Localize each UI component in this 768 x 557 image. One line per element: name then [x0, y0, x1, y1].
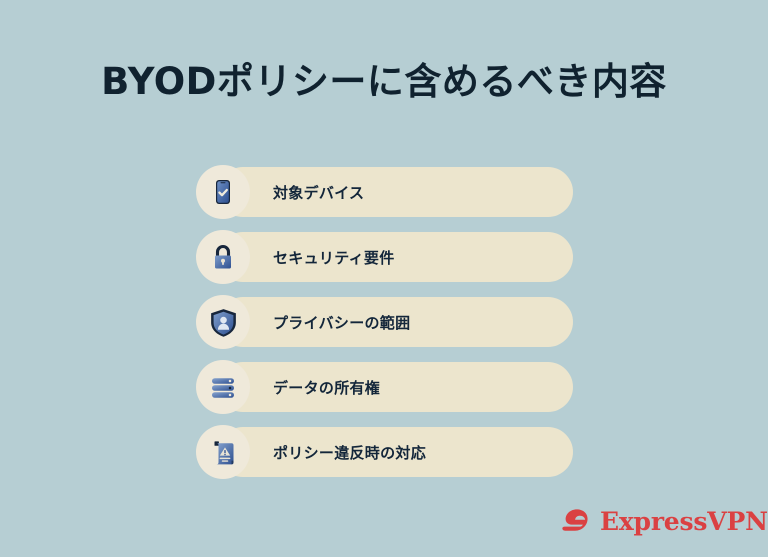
list-item-pill — [218, 167, 573, 217]
checklist: 対象デバイス — [196, 165, 576, 490]
list-item[interactable]: 対象デバイス — [196, 165, 576, 219]
list-item-icon-circle — [196, 425, 250, 479]
list-item-icon-circle — [196, 360, 250, 414]
database-stack-icon — [207, 371, 239, 403]
list-item-label: 対象デバイス — [273, 167, 364, 217]
list-item-icon-circle — [196, 230, 250, 284]
scroll-warning-icon — [207, 436, 239, 468]
shield-person-icon — [207, 306, 240, 339]
list-item-label: セキュリティ要件 — [273, 232, 395, 282]
page-title: BYODポリシーに含めるべき内容 — [0, 60, 768, 104]
list-item[interactable]: セキュリティ要件 — [196, 230, 576, 284]
expressvpn-e-icon — [556, 503, 592, 539]
list-item-label: ポリシー違反時の対応 — [273, 427, 426, 477]
list-item-pill — [218, 232, 573, 282]
padlock-icon — [207, 241, 239, 273]
list-item[interactable]: プライバシーの範囲 — [196, 295, 576, 349]
list-item-label: データの所有権 — [273, 362, 380, 412]
list-item-label: プライバシーの範囲 — [273, 297, 410, 347]
expressvpn-logo: ExpressVPN — [556, 503, 768, 539]
smartphone-check-icon — [207, 176, 239, 208]
list-item[interactable]: データの所有権 — [196, 360, 576, 414]
list-item-pill — [218, 362, 573, 412]
list-item-icon-circle — [196, 165, 250, 219]
slide-canvas: BYODポリシーに含めるべき内容 対象デバイス — [0, 0, 768, 557]
expressvpn-wordmark: ExpressVPN — [600, 509, 768, 534]
list-item[interactable]: ポリシー違反時の対応 — [196, 425, 576, 479]
list-item-icon-circle — [196, 295, 250, 349]
